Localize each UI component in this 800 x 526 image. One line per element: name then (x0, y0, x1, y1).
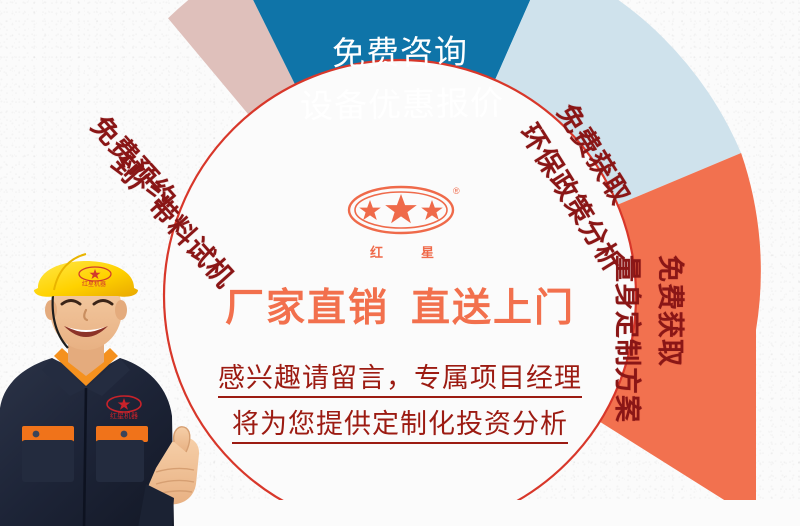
logo-word-left: 红 (370, 242, 384, 261)
promo-banner: 免费预约 到厂带料试机 免费咨询 设备优惠报价 免费获取 环保政策分析 免费获取… (0, 0, 800, 526)
svg-text:红星机器: 红星机器 (82, 280, 106, 288)
worker-photo: 红星机器 红星机器 (0, 236, 218, 526)
segment-blue-line1: 免费咨询 (332, 35, 469, 70)
svg-text:红星机器: 红星机器 (110, 411, 138, 420)
headline-part2: 直送上门 (411, 287, 575, 330)
worker-helmet (34, 261, 138, 297)
svg-text:®: ® (453, 186, 460, 196)
worker-pocket-button-left (33, 431, 40, 438)
subline-1: 感兴趣请留言，专属项目经理 (218, 363, 582, 398)
worker-ear-right (115, 300, 127, 320)
segment-blue-line2: 设备优惠报价 (300, 86, 505, 123)
logo-word-right: 星 (421, 242, 435, 261)
brand-logo: ® 红 星 (343, 182, 465, 266)
subline-2: 将为您提供定制化投资分析 (232, 409, 568, 444)
worker-pocket-button-right (121, 431, 128, 438)
three-stars-oval-logo-icon: ® (343, 182, 465, 266)
worker-pocket-right-body (96, 440, 144, 482)
worker-pocket-left-body (22, 440, 74, 482)
headline-part1: 厂家直销 (225, 287, 389, 330)
worker-pocket-left (22, 426, 74, 442)
worker-ear-left (45, 300, 57, 320)
